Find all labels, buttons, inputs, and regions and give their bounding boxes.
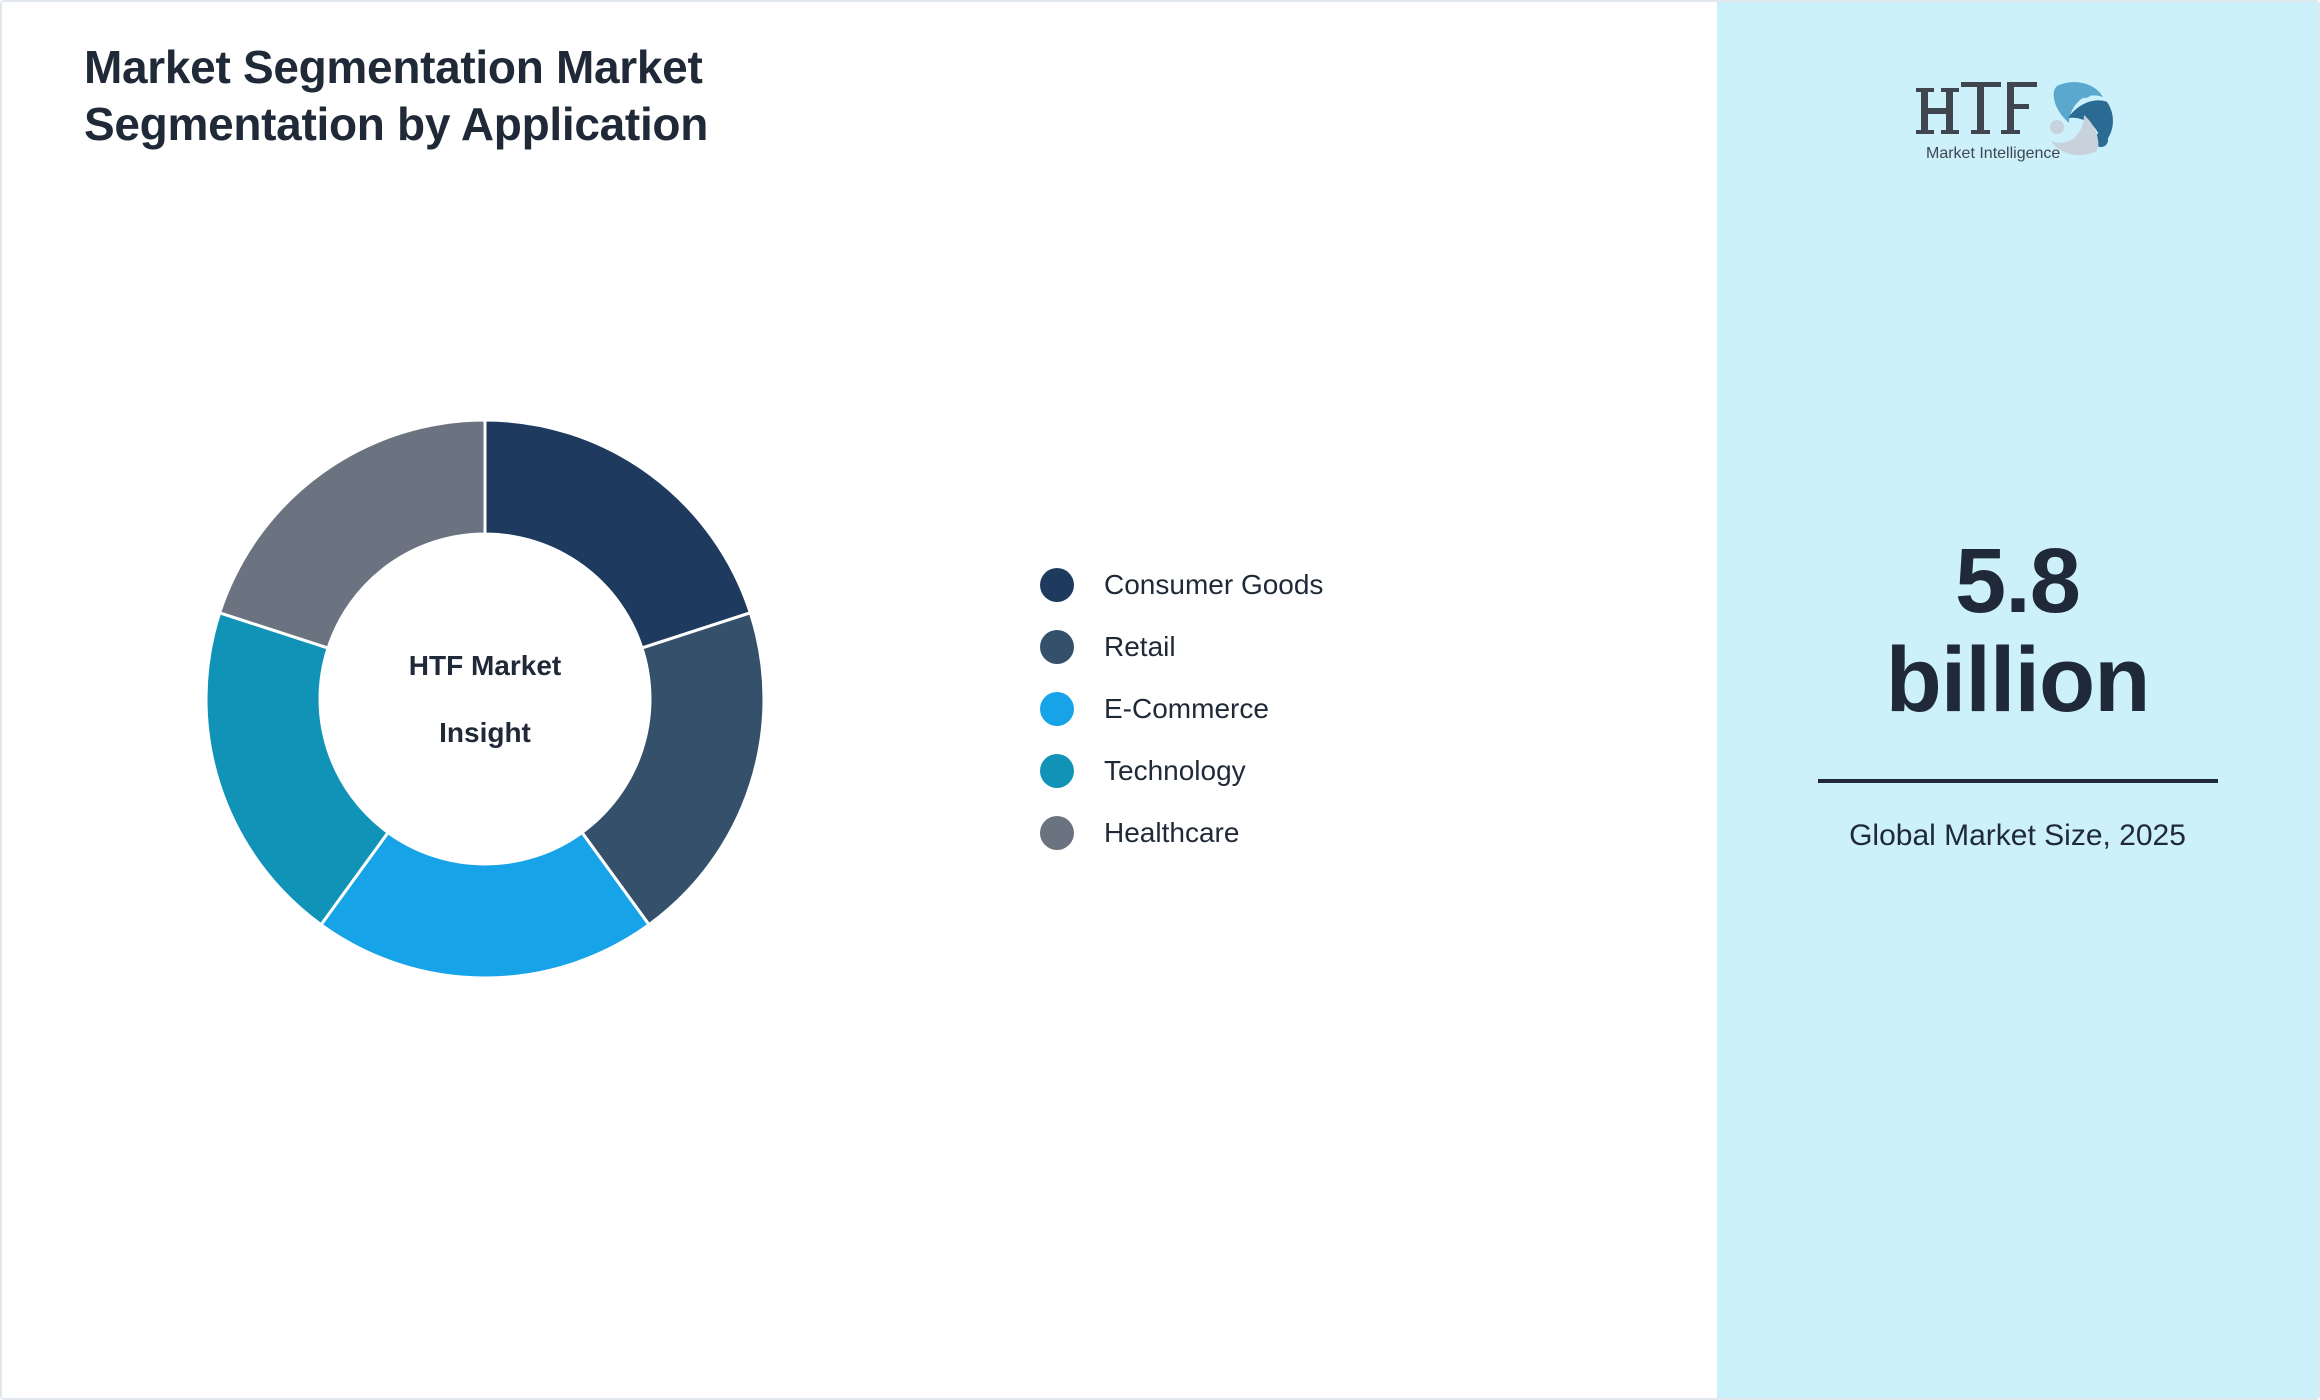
legend-item-label: Retail [1104, 631, 1176, 663]
stat-value: 5.8 billion [1808, 532, 2228, 731]
legend-dot-icon [1040, 692, 1074, 726]
legend-item-retail[interactable]: Retail [1040, 616, 1323, 678]
donut-chart-graphic: HTF Market Insight [206, 420, 764, 978]
legend-dot-icon [1040, 568, 1074, 602]
infographic-card: Market Segmentation Market Segmentation … [0, 0, 2320, 1400]
stat-caption: Global Market Size, 2025 [1838, 817, 2198, 854]
legend-item-consumer-goods[interactable]: Consumer Goods [1040, 554, 1323, 616]
donut-slice-healthcare[interactable] [220, 420, 485, 648]
donut-slices [206, 420, 764, 978]
logo-svg: Market Intelligence [1911, 64, 2125, 166]
legend-item-healthcare[interactable]: Healthcare [1040, 802, 1323, 864]
legend-item-e-commerce[interactable]: E-Commerce [1040, 678, 1323, 740]
chart-legend: Consumer Goods Retail E-Commerce Technol… [1040, 554, 1323, 864]
logo-tagline: Market Intelligence [1926, 145, 2060, 162]
legend-dot-icon [1040, 754, 1074, 788]
stat-panel: Market Intelligence 5.8 billion Global M… [1717, 2, 2318, 1398]
legend-item-label: Consumer Goods [1104, 569, 1323, 601]
donut-slice-consumer-goods[interactable] [485, 420, 750, 648]
legend-item-technology[interactable]: Technology [1040, 740, 1323, 802]
stat-value-line-2: billion [1886, 629, 2150, 731]
legend-dot-icon [1040, 630, 1074, 664]
legend-item-label: Healthcare [1104, 817, 1239, 849]
stat-block: 5.8 billion Global Market Size, 2025 [1717, 532, 2318, 854]
stat-value-line-1: 5.8 [1955, 530, 2080, 632]
donut-chart: HTF Market Insight Consumer Goods Retail [2, 2, 1717, 1400]
chart-panel: Market Segmentation Market Segmentation … [2, 2, 1717, 1398]
logo-wordmark [1916, 82, 2037, 134]
legend-dot-icon [1040, 816, 1074, 850]
donut-svg [206, 420, 764, 978]
legend-item-label: Technology [1104, 755, 1246, 787]
htf-market-intelligence-logo-icon: Market Intelligence [1911, 64, 2125, 166]
legend-item-label: E-Commerce [1104, 693, 1269, 725]
stat-divider [1818, 779, 2218, 783]
